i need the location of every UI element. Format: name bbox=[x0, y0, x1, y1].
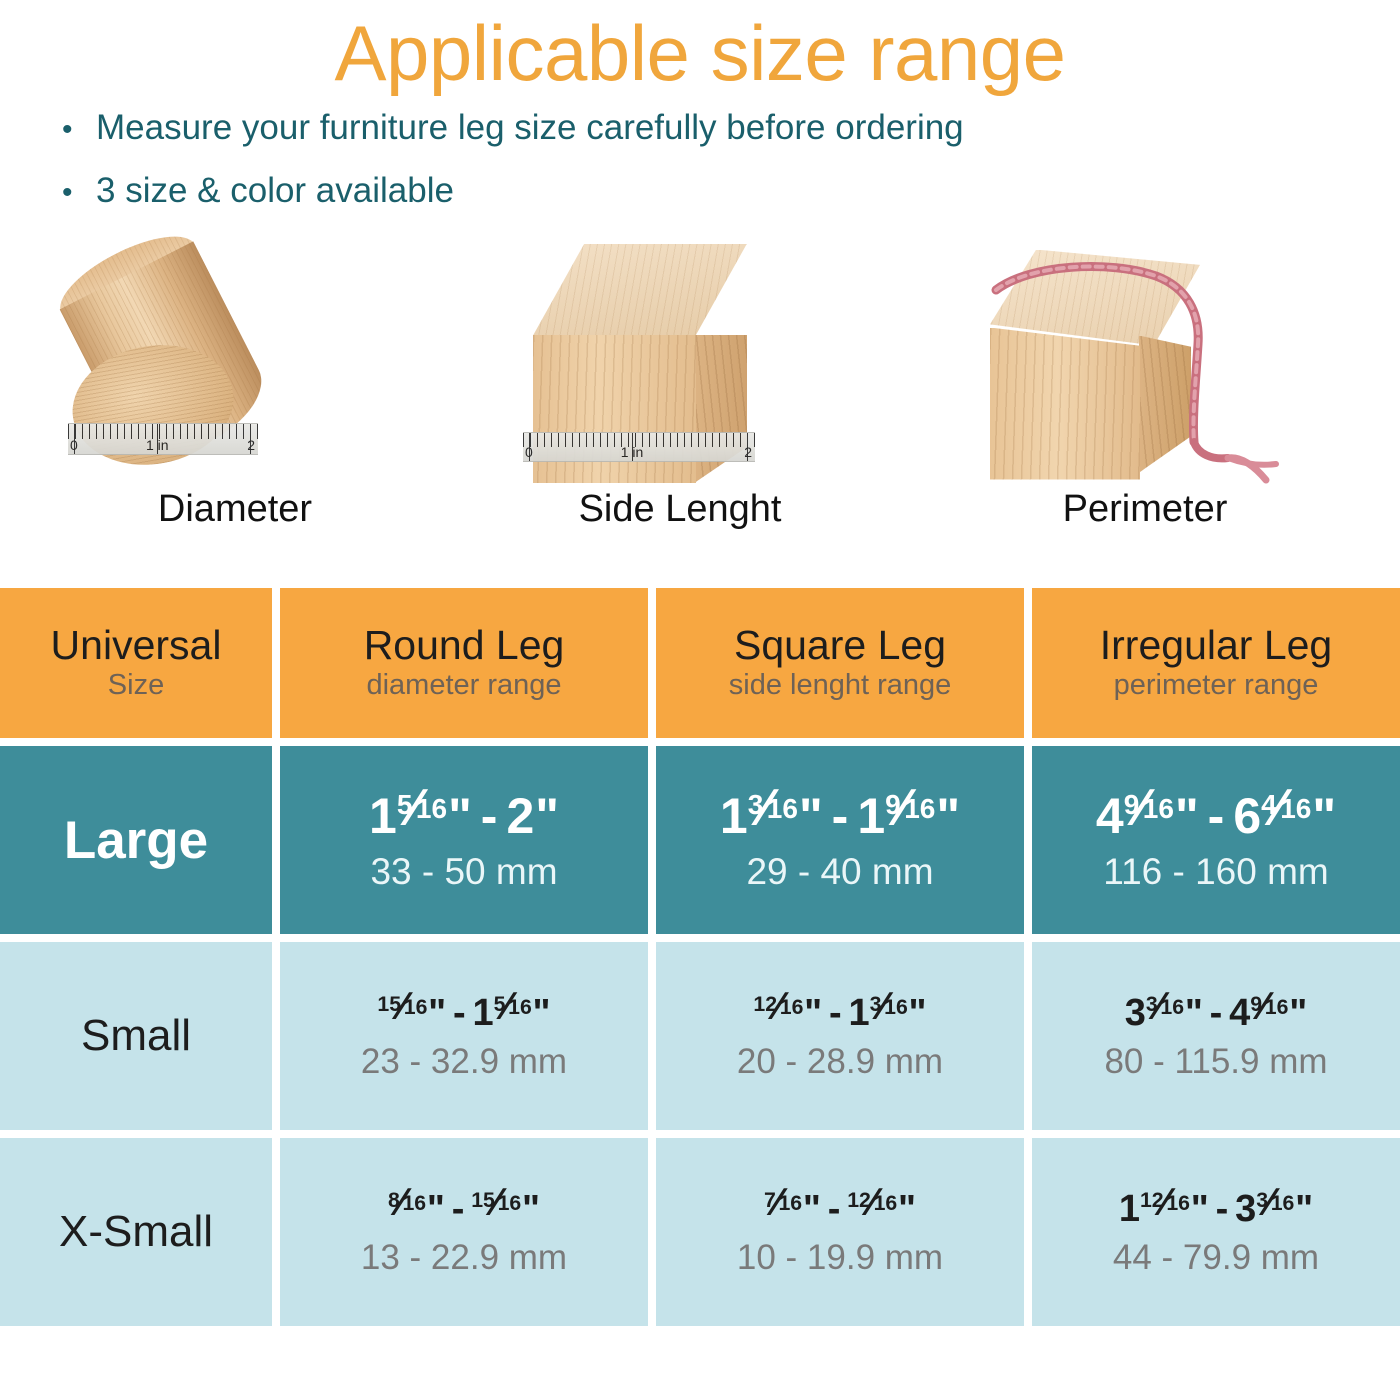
denominator: 16 bbox=[1166, 1193, 1190, 1214]
header-sub: perimeter range bbox=[1114, 667, 1319, 703]
denominator: 16 bbox=[402, 1193, 426, 1214]
measurement-mm: 80 - 115.9 mm bbox=[1104, 1044, 1327, 1079]
range-dash: - bbox=[481, 791, 498, 841]
fraction-value: 15⁄16" bbox=[369, 791, 472, 841]
range-dash: - bbox=[1216, 1190, 1229, 1228]
inch-mark: " bbox=[427, 1190, 445, 1228]
denominator: 16 bbox=[780, 997, 804, 1018]
inch-mark: " bbox=[533, 994, 551, 1032]
ruler-label-mid: 1 in bbox=[146, 437, 169, 453]
header-sub: Size bbox=[108, 667, 164, 703]
fraction-value: 8⁄16" bbox=[388, 1190, 445, 1228]
bullet-dot-icon: • bbox=[62, 115, 96, 145]
illustration-caption: Diameter bbox=[60, 490, 410, 528]
numerator: 12 bbox=[753, 994, 777, 1015]
page-title: Applicable size range bbox=[0, 0, 1400, 92]
range-dash: - bbox=[828, 1190, 841, 1228]
square-leg-image: 0 1 in 2 bbox=[505, 236, 855, 486]
measurement-mm: 23 - 32.9 mm bbox=[361, 1044, 567, 1079]
whole-number: 1 bbox=[857, 791, 885, 841]
inch-mark: " bbox=[936, 791, 960, 841]
size-label-cell: X-Small bbox=[0, 1138, 272, 1326]
fraction-value: 12⁄16" bbox=[847, 1190, 916, 1228]
whole-number: 6 bbox=[1233, 791, 1261, 841]
header-cell-square-leg: Square Leg side lenght range bbox=[656, 588, 1024, 738]
whole-number: 3 bbox=[1125, 994, 1146, 1032]
header-cell-round-leg: Round Leg diameter range bbox=[280, 588, 648, 738]
range-dash: - bbox=[1208, 791, 1225, 841]
measurement-cell: 7⁄16"-12⁄16" 10 - 19.9 mm bbox=[656, 1138, 1024, 1326]
measurement-cell: 112⁄16"-33⁄16" 44 - 79.9 mm bbox=[1032, 1138, 1400, 1326]
block-top-face bbox=[533, 244, 747, 336]
denominator: 16 bbox=[1271, 1193, 1295, 1214]
denominator: 16 bbox=[404, 997, 428, 1018]
inch-mark: " bbox=[898, 1190, 916, 1228]
measurement-cell: 8⁄16"-15⁄16" 13 - 22.9 mm bbox=[280, 1138, 648, 1326]
measurement-cell: 33⁄16"-49⁄16" 80 - 115.9 mm bbox=[1032, 942, 1400, 1130]
fraction-value: 33⁄16" bbox=[1235, 1190, 1313, 1228]
fraction-value: 15⁄16" bbox=[473, 994, 551, 1032]
fraction-value: 2" bbox=[506, 791, 559, 841]
whole-number: 1 bbox=[369, 791, 397, 841]
inch-mark: " bbox=[522, 1190, 540, 1228]
ruler-label-mid: 1 in bbox=[621, 444, 644, 460]
fraction-value: 13⁄16" bbox=[849, 994, 927, 1032]
whole-number: 3 bbox=[1235, 1190, 1256, 1228]
fraction-value: 19⁄16" bbox=[857, 791, 960, 841]
measuring-string-icon bbox=[960, 236, 1330, 486]
header-main: Round Leg bbox=[364, 623, 565, 667]
measurement-inches: 7⁄16"-12⁄16" bbox=[764, 1190, 916, 1228]
inch-mark: " bbox=[909, 994, 927, 1032]
whole-number: 1 bbox=[720, 791, 748, 841]
ruler-icon: 0 1 in 2 bbox=[523, 432, 755, 462]
denominator: 16 bbox=[884, 997, 908, 1018]
measurement-mm: 116 - 160 mm bbox=[1103, 853, 1329, 890]
bullet-dot-icon: • bbox=[62, 178, 96, 208]
range-dash: - bbox=[453, 994, 466, 1032]
header-cell-irregular-leg: Irregular Leg perimeter range bbox=[1032, 588, 1400, 738]
measurement-inches: 15⁄16"-15⁄16" bbox=[377, 994, 550, 1032]
measurement-mm: 29 - 40 mm bbox=[746, 853, 933, 890]
measurement-inches: 13⁄16"-19⁄16" bbox=[720, 791, 960, 841]
inch-mark: " bbox=[799, 791, 823, 841]
table-row: Small 15⁄16"-15⁄16" 23 - 32.9 mm 12⁄16"-… bbox=[0, 942, 1400, 1130]
header-main: Irregular Leg bbox=[1100, 623, 1332, 667]
illustration-caption: Side Lenght bbox=[505, 490, 855, 528]
fraction-value: 13⁄16" bbox=[720, 791, 823, 841]
whole-number: 4 bbox=[1096, 791, 1124, 841]
denominator: 16 bbox=[508, 997, 532, 1018]
measurement-inches: 8⁄16"-15⁄16" bbox=[388, 1190, 540, 1228]
measurement-inches: 49⁄16"-64⁄16" bbox=[1096, 791, 1336, 841]
measurement-cell: 15⁄16"-15⁄16" 23 - 32.9 mm bbox=[280, 942, 648, 1130]
numerator: 12 bbox=[1140, 1190, 1164, 1211]
list-item: • Measure your furniture leg size carefu… bbox=[62, 110, 1400, 147]
denominator: 16 bbox=[874, 1193, 898, 1214]
inch-mark: " bbox=[1295, 1190, 1313, 1228]
size-label-cell: Small bbox=[0, 942, 272, 1130]
size-label: Small bbox=[81, 1014, 191, 1058]
numerator: 15 bbox=[377, 994, 401, 1015]
denominator: 16 bbox=[1160, 997, 1184, 1018]
inch-mark: " bbox=[1289, 994, 1307, 1032]
range-dash: - bbox=[452, 1190, 465, 1228]
table-row: Large 15⁄16"-2" 33 - 50 mm 13⁄16"-19⁄16"… bbox=[0, 746, 1400, 934]
measurement-mm: 44 - 79.9 mm bbox=[1113, 1240, 1319, 1275]
ruler-label-end: 2 bbox=[247, 437, 255, 453]
irregular-leg-image bbox=[960, 236, 1330, 486]
fraction-value: 7⁄16" bbox=[764, 1190, 821, 1228]
numerator: 12 bbox=[847, 1190, 871, 1211]
fraction-value: 49⁄16" bbox=[1229, 994, 1307, 1032]
inch-mark: " bbox=[803, 1190, 821, 1228]
denominator: 16 bbox=[767, 795, 798, 823]
whole-number: 1 bbox=[1119, 1190, 1140, 1228]
measurement-mm: 10 - 19.9 mm bbox=[737, 1240, 943, 1275]
inch-mark: " bbox=[1312, 791, 1336, 841]
illustration-diameter: 0 1 in 2 Diameter bbox=[60, 236, 410, 528]
range-dash: - bbox=[832, 791, 849, 841]
header-main: Square Leg bbox=[734, 623, 946, 667]
inch-mark: " bbox=[428, 994, 446, 1032]
inch-mark: " bbox=[804, 994, 822, 1032]
whole-number: 2 bbox=[506, 791, 534, 841]
measurement-cell: 12⁄16"-13⁄16" 20 - 28.9 mm bbox=[656, 942, 1024, 1130]
infographic-page: Applicable size range • Measure your fur… bbox=[0, 0, 1400, 1400]
measurement-inches: 15⁄16"-2" bbox=[369, 791, 559, 841]
ruler-label-end: 2 bbox=[744, 444, 752, 460]
measurement-cell: 15⁄16"-2" 33 - 50 mm bbox=[280, 746, 648, 934]
illustration-perimeter: Perimeter bbox=[960, 236, 1330, 528]
size-table: Universal Size Round Leg diameter range … bbox=[0, 588, 1400, 1334]
denominator: 16 bbox=[498, 1193, 522, 1214]
whole-number: 1 bbox=[849, 994, 870, 1032]
ruler-icon: 0 1 in 2 bbox=[68, 423, 258, 455]
range-dash: - bbox=[1210, 994, 1223, 1032]
round-leg-image: 0 1 in 2 bbox=[60, 236, 410, 486]
inch-mark: " bbox=[535, 791, 559, 841]
denominator: 16 bbox=[1280, 795, 1311, 823]
bullet-text: Measure your furniture leg size carefull… bbox=[96, 110, 964, 147]
size-label-cell: Large bbox=[0, 746, 272, 934]
denominator: 16 bbox=[416, 795, 447, 823]
list-item: • 3 size & color available bbox=[62, 173, 1400, 210]
measurement-mm: 13 - 22.9 mm bbox=[361, 1240, 567, 1275]
fraction-value: 15⁄16" bbox=[471, 1190, 540, 1228]
fraction-value: 64⁄16" bbox=[1233, 791, 1336, 841]
whole-number: 4 bbox=[1229, 994, 1250, 1032]
measurement-mm: 33 - 50 mm bbox=[370, 853, 557, 890]
ruler-label-start: 0 bbox=[525, 444, 533, 460]
illustration-caption: Perimeter bbox=[960, 490, 1330, 528]
denominator: 16 bbox=[1265, 997, 1289, 1018]
denominator: 16 bbox=[904, 795, 935, 823]
fraction-value: 112⁄16" bbox=[1119, 1190, 1209, 1228]
numerator: 15 bbox=[471, 1190, 495, 1211]
inch-mark: " bbox=[448, 791, 472, 841]
illustration-side-length: 0 1 in 2 Side Lenght bbox=[505, 236, 855, 528]
measurement-inches: 112⁄16"-33⁄16" bbox=[1119, 1190, 1313, 1228]
illustration-strip: 0 1 in 2 Diameter 0 1 in bbox=[0, 236, 1400, 546]
measurement-inches: 33⁄16"-49⁄16" bbox=[1125, 994, 1307, 1032]
header-cell-universal-size: Universal Size bbox=[0, 588, 272, 738]
fraction-value: 49⁄16" bbox=[1096, 791, 1199, 841]
bullet-text: 3 size & color available bbox=[96, 173, 454, 210]
whole-number: 1 bbox=[473, 994, 494, 1032]
inch-mark: " bbox=[1175, 791, 1199, 841]
measurement-cell: 13⁄16"-19⁄16" 29 - 40 mm bbox=[656, 746, 1024, 934]
denominator: 16 bbox=[1143, 795, 1174, 823]
measurement-mm: 20 - 28.9 mm bbox=[737, 1044, 943, 1079]
inch-mark: " bbox=[1185, 994, 1203, 1032]
size-label: X-Small bbox=[59, 1210, 213, 1254]
measurement-cell: 49⁄16"-64⁄16" 116 - 160 mm bbox=[1032, 746, 1400, 934]
fraction-value: 12⁄16" bbox=[753, 994, 822, 1032]
header-sub: diameter range bbox=[366, 667, 561, 703]
header-main: Universal bbox=[51, 623, 222, 667]
inch-mark: " bbox=[1191, 1190, 1209, 1228]
fraction-value: 33⁄16" bbox=[1125, 994, 1203, 1032]
range-dash: - bbox=[829, 994, 842, 1032]
table-header-row: Universal Size Round Leg diameter range … bbox=[0, 588, 1400, 738]
fraction-value: 15⁄16" bbox=[377, 994, 446, 1032]
table-row: X-Small 8⁄16"-15⁄16" 13 - 22.9 mm 7⁄16"-… bbox=[0, 1138, 1400, 1326]
bullet-list: • Measure your furniture leg size carefu… bbox=[62, 110, 1400, 210]
measurement-inches: 12⁄16"-13⁄16" bbox=[753, 994, 926, 1032]
header-sub: side lenght range bbox=[729, 667, 952, 703]
denominator: 16 bbox=[778, 1193, 802, 1214]
size-label: Large bbox=[64, 814, 208, 867]
ruler-label-start: 0 bbox=[70, 437, 78, 453]
